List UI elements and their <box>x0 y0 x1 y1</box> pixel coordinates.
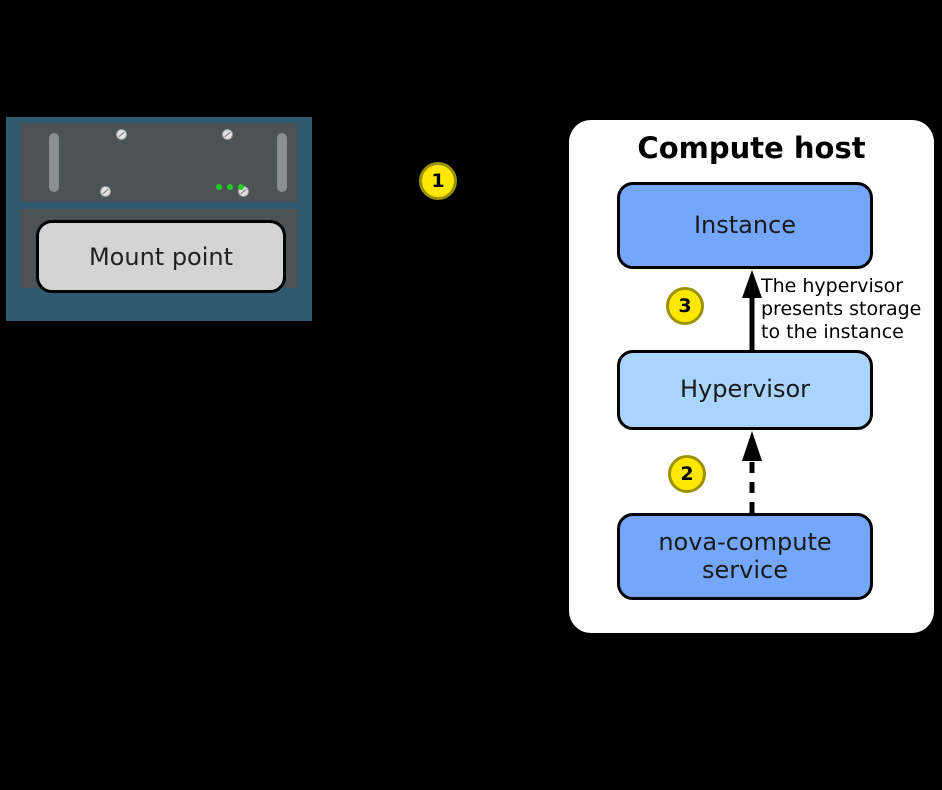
instance-box: Instance <box>617 182 873 269</box>
hypervisor-annotation-line-1: The hypervisor <box>761 275 937 298</box>
arrow-hypervisor-to-instance <box>741 269 763 350</box>
mount-point-label: Mount point <box>89 243 233 271</box>
instance-label: Instance <box>694 212 796 240</box>
step-badge-1-number: 1 <box>431 170 444 192</box>
step-badge-2: 2 <box>668 455 706 493</box>
hypervisor-annotation-line-3: to the instance <box>761 321 937 344</box>
step-badge-3-number: 3 <box>678 295 691 317</box>
led-indicator-icon-3 <box>238 184 244 190</box>
screw-icon-top-left <box>117 130 126 139</box>
step-badge-1: 1 <box>419 162 457 200</box>
mount-point-box: Mount point <box>36 220 286 293</box>
rack-handle-icon-left <box>49 133 59 192</box>
step-badge-3: 3 <box>666 287 704 325</box>
hypervisor-label: Hypervisor <box>680 376 810 404</box>
arrow-nova-to-hypervisor <box>741 430 763 513</box>
nova-compute-service-box: nova-compute service <box>617 513 873 600</box>
compute-host-title: Compute host <box>569 131 934 165</box>
compute-host-panel: Compute host Instance The hypervisor pre… <box>569 120 934 633</box>
step-badge-2-number: 2 <box>680 463 693 485</box>
hypervisor-box: Hypervisor <box>617 350 873 430</box>
led-indicator-icon-2 <box>227 184 233 190</box>
rack-unit-faceplate-top <box>20 123 298 202</box>
screw-icon-bottom-left <box>101 187 110 196</box>
screw-icon-top-right <box>223 130 232 139</box>
rack-handle-icon-right <box>277 133 287 192</box>
nova-compute-service-label: nova-compute service <box>658 529 831 584</box>
hypervisor-annotation: The hypervisor presents storage to the i… <box>761 275 937 345</box>
storage-rack: Mount point <box>6 117 312 321</box>
led-indicator-icon-1 <box>216 184 222 190</box>
hypervisor-annotation-line-2: presents storage <box>761 298 937 321</box>
